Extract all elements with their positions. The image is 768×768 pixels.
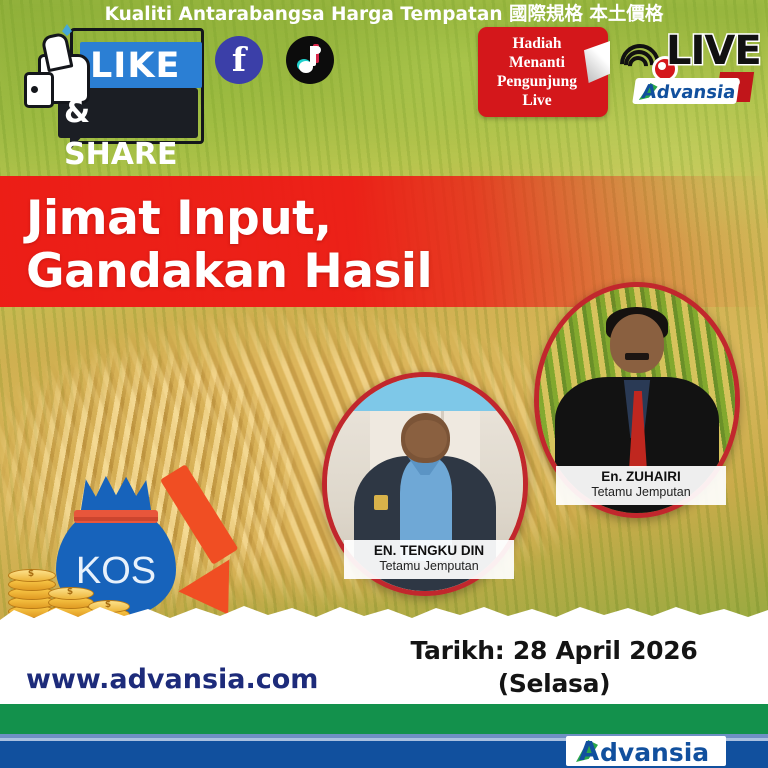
like-label: LIKE bbox=[90, 46, 202, 86]
coin-symbol: $ bbox=[88, 600, 128, 611]
speaker-name: EN. TENGKU DIN bbox=[344, 543, 514, 559]
tiktok-icon[interactable] bbox=[286, 36, 334, 84]
headline-line-1: Jimat Input, bbox=[26, 191, 332, 246]
ribbon-line-4: Live bbox=[478, 91, 596, 110]
brand-letter-a: A bbox=[579, 737, 599, 767]
speaker-nameplate-zuhairi: En. ZUHAIRI Tetamu Jemputan bbox=[556, 466, 726, 505]
facebook-glyph: f bbox=[215, 36, 263, 84]
speaker-role: Tetamu Jemputan bbox=[344, 559, 514, 574]
live-brand-wordmark: A dvansia bbox=[636, 80, 737, 102]
speaker-name: En. ZUHAIRI bbox=[556, 469, 726, 485]
event-date: Tarikh: 28 April 2026 (Selasa) bbox=[352, 634, 756, 700]
ribbon-text: Hadiah Menanti Pengunjung Live bbox=[478, 34, 596, 110]
promo-poster: LIKE & SHARE f Hadiah Menanti Pengunjung… bbox=[0, 0, 768, 768]
live-label: LIVE bbox=[666, 28, 761, 74]
ribbon-line-1: Hadiah bbox=[478, 34, 596, 53]
speaker-role: Tetamu Jemputan bbox=[556, 485, 726, 500]
footer-brand-plate: A dvansia bbox=[566, 736, 726, 766]
tagline-text: Kualiti Antarabangsa Harga Tempatan 國際規格… bbox=[0, 0, 768, 30]
coin-symbol: $ bbox=[8, 569, 54, 580]
ribbon-line-2: Menanti bbox=[478, 53, 596, 72]
coin-symbol: $ bbox=[48, 587, 92, 598]
page-title: Jimat Input, Gandakan Hasil bbox=[26, 192, 432, 298]
ribbon-line-3: Pengunjung bbox=[478, 72, 596, 91]
prize-ribbon: Hadiah Menanti Pengunjung Live bbox=[478, 27, 608, 117]
website-url[interactable]: www.advansia.com bbox=[26, 664, 318, 695]
brand-name-rest: dvansia bbox=[655, 82, 737, 103]
broadcast-dot-center bbox=[658, 62, 666, 70]
live-badge: LIVE HD A dvansia bbox=[620, 26, 756, 112]
like-and-share-badge: LIKE & SHARE bbox=[18, 22, 208, 144]
brand-name-rest: dvansia bbox=[600, 738, 709, 767]
tagline-bar bbox=[0, 704, 768, 734]
headline-line-2: Gandakan Hasil bbox=[26, 244, 432, 299]
tiktok-note-glyph bbox=[299, 46, 321, 74]
share-label: & SHARE bbox=[64, 92, 196, 134]
speaker-nameplate-tengku-din: EN. TENGKU DIN Tetamu Jemputan bbox=[344, 540, 514, 579]
facebook-icon[interactable]: f bbox=[215, 36, 263, 84]
